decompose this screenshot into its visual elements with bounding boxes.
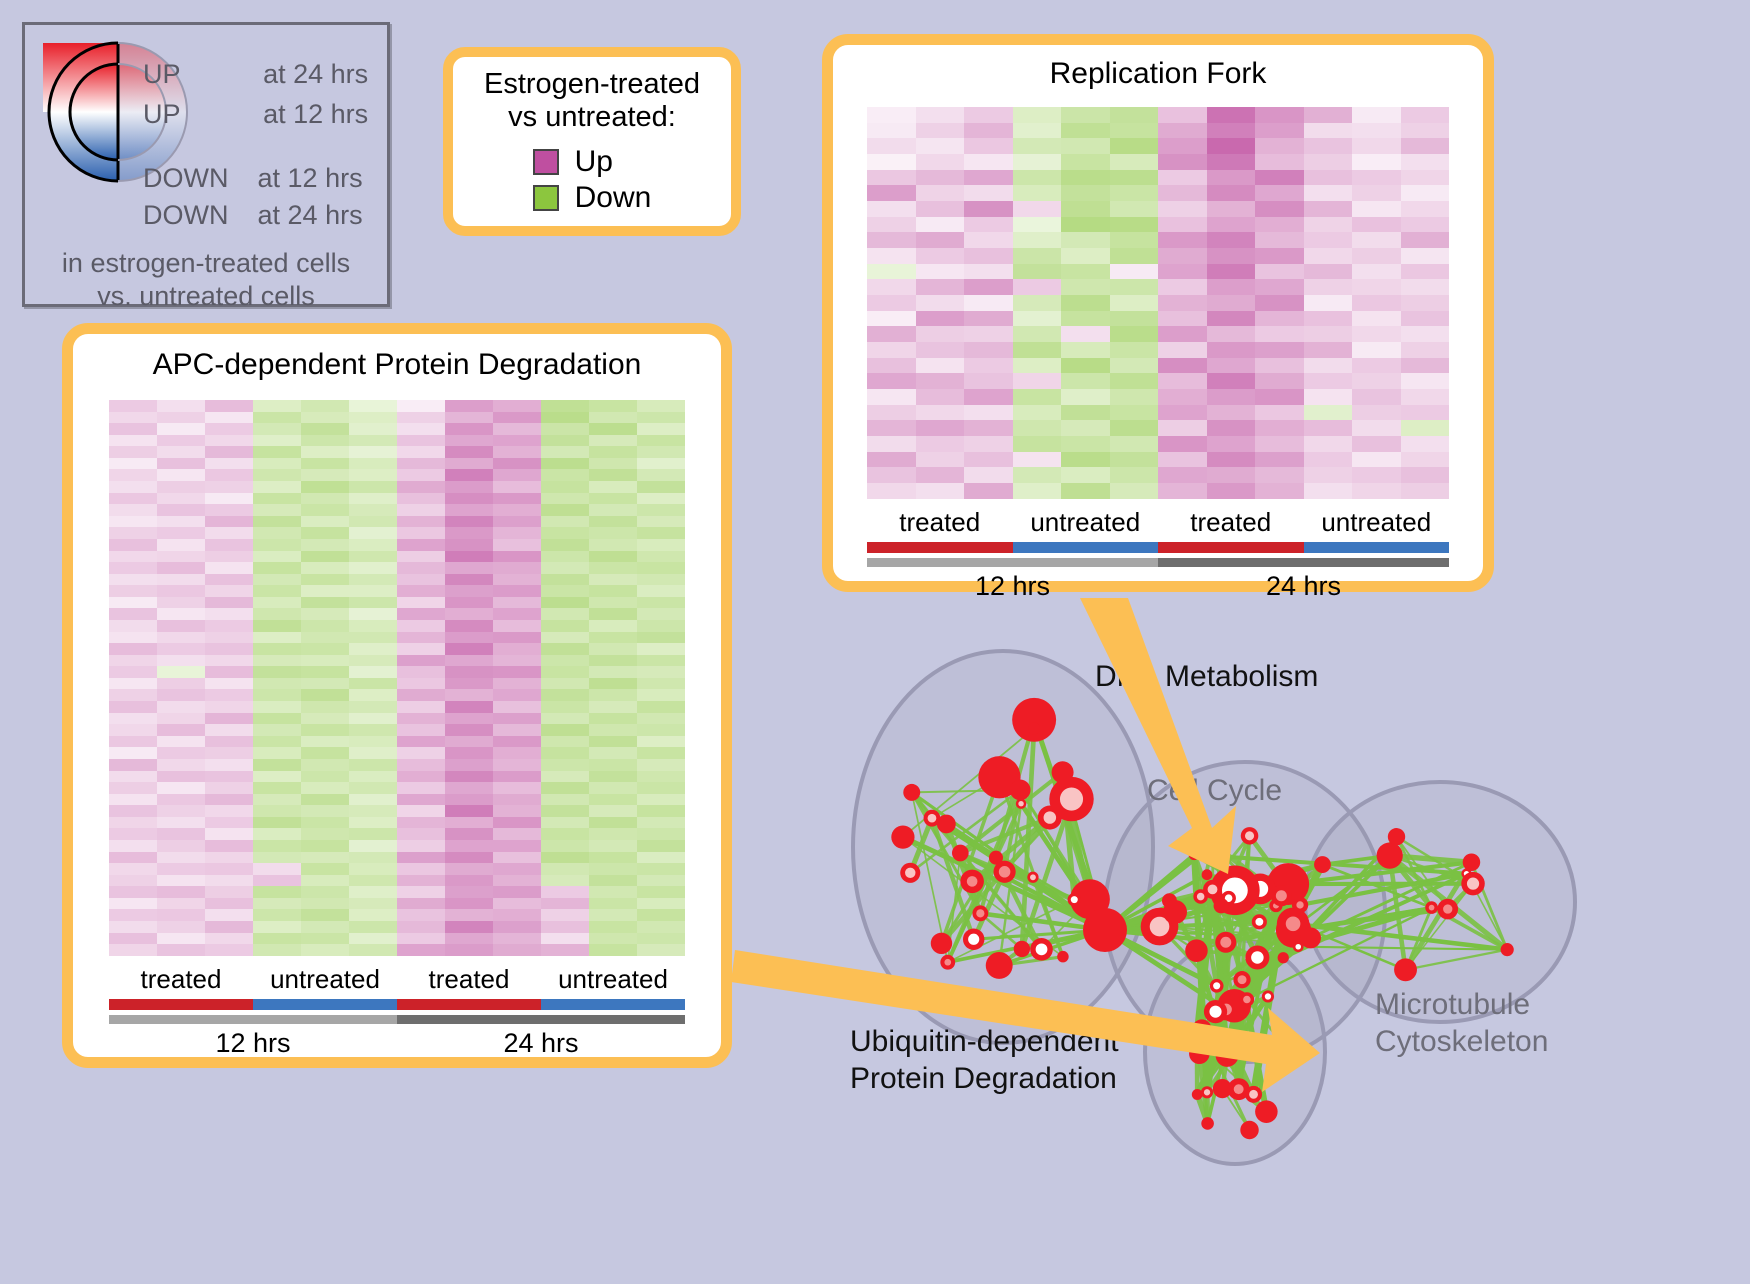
heatmap-cell xyxy=(349,701,397,713)
heatmap-cell xyxy=(445,574,493,586)
heatmap-cell xyxy=(637,724,685,736)
heatmap-cell xyxy=(1110,483,1159,499)
network-node-core xyxy=(1220,937,1231,948)
heatmap-cell xyxy=(349,458,397,470)
heatmap-cell xyxy=(157,504,205,516)
heatmap-cell xyxy=(541,771,589,783)
heatmap-cell xyxy=(637,423,685,435)
heatmap-cell xyxy=(1013,154,1062,170)
network-node-core xyxy=(1208,884,1218,894)
heatmap-cell xyxy=(493,655,541,667)
updown-title-line1: Estrogen-treated xyxy=(484,68,700,100)
heatmap-cell xyxy=(349,435,397,447)
heatmap-cell xyxy=(1255,467,1304,483)
heatmap-cell xyxy=(157,898,205,910)
heatmap-cell xyxy=(589,458,637,470)
heatmap-cell xyxy=(493,782,541,794)
heatmap-cell xyxy=(964,154,1013,170)
heatmap-cell xyxy=(1158,420,1207,436)
heatmap-cell xyxy=(541,921,589,933)
heatmap-cell xyxy=(157,435,205,447)
heatmap-cell xyxy=(205,643,253,655)
heatmap-cell xyxy=(253,400,301,412)
legend-state: DOWN xyxy=(143,200,228,230)
heatmap-cell xyxy=(589,585,637,597)
heatmap-cell xyxy=(493,400,541,412)
heatmap-cell xyxy=(637,666,685,678)
heatmap-cell xyxy=(397,551,445,563)
heatmap-cell xyxy=(349,678,397,690)
heatmap-cell xyxy=(1304,138,1353,154)
heatmap-cell xyxy=(397,713,445,725)
heatmap-cell xyxy=(541,412,589,424)
legend-footer-line2: vs. untreated cells xyxy=(25,280,387,313)
heatmap-cell xyxy=(1013,107,1062,123)
heatmap-cell xyxy=(397,863,445,875)
heatmap-cell xyxy=(445,504,493,516)
heatmap-cell xyxy=(637,435,685,447)
heatmap-cell xyxy=(1207,185,1256,201)
heatmap-cell xyxy=(541,805,589,817)
heatmap-cell xyxy=(589,817,637,829)
heatmap-cell xyxy=(445,458,493,470)
heatmap-cell xyxy=(637,620,685,632)
heatmap-cell xyxy=(301,469,349,481)
heatmap-cell xyxy=(1158,154,1207,170)
heatmap-cell xyxy=(109,944,157,956)
heatmap-cell xyxy=(1255,264,1304,280)
network-node xyxy=(1206,837,1220,851)
network-node xyxy=(903,784,920,801)
heatmap-cell xyxy=(253,852,301,864)
heatmap-cell xyxy=(397,701,445,713)
heatmap-cell xyxy=(157,713,205,725)
heatmap-cell xyxy=(1158,436,1207,452)
heatmap-cell xyxy=(253,840,301,852)
heatmap-cell xyxy=(541,655,589,667)
heatmap-cell xyxy=(493,759,541,771)
network-node-core xyxy=(1036,943,1048,955)
heatmap-cell xyxy=(637,689,685,701)
heatmap-cell xyxy=(493,423,541,435)
heatmap-cell xyxy=(109,423,157,435)
cluster-label-line2: Protein Degradation xyxy=(850,1061,1119,1098)
group-labels: treated untreated treated untreated xyxy=(867,507,1449,538)
heatmap-cell xyxy=(397,423,445,435)
heatmap-cell xyxy=(1110,373,1159,389)
heatmap-cell xyxy=(916,342,965,358)
pathway-network: DNA Metabolism Cell Cycle Microtubule Cy… xyxy=(795,612,1750,1279)
heatmap-cell xyxy=(1061,138,1110,154)
heatmap-cell xyxy=(589,828,637,840)
heatmap-cell xyxy=(253,736,301,748)
heatmap-cell xyxy=(397,840,445,852)
heatmap-cell xyxy=(1304,232,1353,248)
legend-time: at 12 hrs xyxy=(258,163,363,193)
time-colour-bar xyxy=(867,558,1449,567)
heatmap-cell xyxy=(301,574,349,586)
heatmap-cell xyxy=(867,264,916,280)
heatmap-cell xyxy=(157,921,205,933)
heatmap-cell xyxy=(1013,483,1062,499)
heatmap-cell xyxy=(445,539,493,551)
heatmap-cell xyxy=(1013,326,1062,342)
cluster-halo-microtubule xyxy=(1305,782,1575,1022)
heatmap-cell xyxy=(1061,170,1110,186)
heatmap-cell xyxy=(1255,170,1304,186)
heatmap-cell xyxy=(1207,326,1256,342)
heatmap-cell xyxy=(1110,138,1159,154)
heatmap-cell xyxy=(541,817,589,829)
heatmap-cell xyxy=(445,481,493,493)
heatmap-cell xyxy=(301,736,349,748)
heatmap-cell xyxy=(493,504,541,516)
heatmap-cell xyxy=(1304,373,1353,389)
heatmap-cell xyxy=(589,655,637,667)
heatmap-cell xyxy=(1110,436,1159,452)
network-node-core xyxy=(976,909,984,917)
network-node xyxy=(1052,761,1074,783)
heatmap-cell xyxy=(349,933,397,945)
heatmap-cell xyxy=(867,154,916,170)
heatmap-cell xyxy=(637,898,685,910)
heatmap-cell xyxy=(916,201,965,217)
heatmap-cell xyxy=(916,373,965,389)
heatmap-cell xyxy=(964,279,1013,295)
heatmap-cell xyxy=(157,458,205,470)
heatmap-cell xyxy=(205,469,253,481)
heatmap-cell xyxy=(109,817,157,829)
heatmap-cell xyxy=(1352,405,1401,421)
heatmap-cell xyxy=(253,527,301,539)
cluster-label-line1: Microtubule xyxy=(1375,987,1548,1024)
heatmap-cell xyxy=(445,562,493,574)
heatmap-cell xyxy=(205,759,253,771)
heatmap-cell xyxy=(301,933,349,945)
time-bar-segment xyxy=(109,1015,397,1024)
heatmap-cell xyxy=(589,771,637,783)
heatmap-cell xyxy=(1401,138,1450,154)
heatmap-cell xyxy=(1013,138,1062,154)
heatmap-cell xyxy=(301,539,349,551)
heatmap-cell xyxy=(397,689,445,701)
heatmap-cell xyxy=(205,400,253,412)
heatmap-cell xyxy=(205,713,253,725)
network-node xyxy=(1185,939,1208,962)
heatmap-cell xyxy=(1401,264,1450,280)
heatmap-cell xyxy=(1110,311,1159,327)
legend-state: UP xyxy=(143,59,180,89)
heatmap-cell xyxy=(1110,232,1159,248)
heatmap-cell xyxy=(1255,405,1304,421)
heatmap-cell xyxy=(589,852,637,864)
heatmap-cell xyxy=(157,886,205,898)
heatmap-cell xyxy=(157,875,205,887)
heatmap-cell xyxy=(1158,373,1207,389)
heatmap-cell xyxy=(205,446,253,458)
heatmap-cell xyxy=(301,724,349,736)
heatmap-cell xyxy=(493,828,541,840)
heatmap-cell xyxy=(1401,154,1450,170)
legend-time: at 24 hrs xyxy=(258,200,363,230)
heatmap-cell xyxy=(349,632,397,644)
group-label: treated xyxy=(867,507,1013,538)
legend-down-label: Down xyxy=(575,181,652,215)
heatmap-cell xyxy=(589,863,637,875)
legend-row-up-12: UP at 12 hrs xyxy=(143,99,368,130)
heatmap-cell xyxy=(589,632,637,644)
time-label: 24 hrs xyxy=(1158,571,1449,602)
heatmap-cell xyxy=(867,201,916,217)
heatmap-cell xyxy=(916,311,965,327)
heatmap-cell xyxy=(1352,358,1401,374)
heatmap-cell xyxy=(349,782,397,794)
heatmap-cell xyxy=(916,264,965,280)
heatmap-cell xyxy=(541,551,589,563)
heatmap-cell xyxy=(1352,154,1401,170)
heatmap-cell xyxy=(397,400,445,412)
heatmap-cell xyxy=(1255,483,1304,499)
heatmap-cell xyxy=(109,481,157,493)
heatmap-cell xyxy=(1207,138,1256,154)
heatmap-cell xyxy=(301,875,349,887)
heatmap-cell xyxy=(109,469,157,481)
heatmap-cell xyxy=(349,412,397,424)
heatmap-cell xyxy=(916,154,965,170)
heatmap-cell xyxy=(1061,373,1110,389)
network-node-core xyxy=(1467,878,1479,890)
legend-footer: in estrogen-treated cells vs. untreated … xyxy=(25,247,387,313)
heatmap-cell xyxy=(541,585,589,597)
heatmap-cell xyxy=(109,446,157,458)
heatmap-cell xyxy=(1304,405,1353,421)
heatmap-cell xyxy=(205,794,253,806)
up-swatch-icon xyxy=(533,149,559,175)
heatmap-cell xyxy=(493,527,541,539)
heatmap-cell xyxy=(493,585,541,597)
heatmap-cell xyxy=(205,736,253,748)
network-node xyxy=(1014,941,1030,957)
heatmap-cell xyxy=(964,264,1013,280)
heatmap-cell xyxy=(541,909,589,921)
heatmap-cell xyxy=(1401,107,1450,123)
heatmap-cell xyxy=(157,817,205,829)
heatmap-cell xyxy=(253,863,301,875)
network-node-core xyxy=(1060,787,1083,810)
group-label: untreated xyxy=(1304,507,1450,538)
heatmap-cell xyxy=(397,412,445,424)
heatmap-cell xyxy=(1255,185,1304,201)
heatmap-cell xyxy=(493,435,541,447)
heatmap-cell xyxy=(445,724,493,736)
heatmap-cell xyxy=(589,516,637,528)
heatmap-cell xyxy=(109,701,157,713)
heatmap-cell xyxy=(301,805,349,817)
heatmap-cell xyxy=(445,933,493,945)
heatmap-cell xyxy=(1207,201,1256,217)
heatmap-cell xyxy=(157,539,205,551)
heatmap-cell xyxy=(1013,170,1062,186)
heatmap-cell xyxy=(109,933,157,945)
heatmap-cell xyxy=(916,467,965,483)
heatmap-cell xyxy=(109,435,157,447)
cluster-label-line2: Cytoskeleton xyxy=(1375,1024,1548,1061)
heatmap-cell xyxy=(445,875,493,887)
heatmap-cell xyxy=(349,516,397,528)
heatmap-cell xyxy=(916,138,965,154)
heatmap-cell xyxy=(1158,483,1207,499)
heatmap-cell xyxy=(589,921,637,933)
heatmap-cell xyxy=(589,689,637,701)
heatmap-cell xyxy=(493,933,541,945)
heatmap-cell xyxy=(493,632,541,644)
heatmap-cell xyxy=(109,689,157,701)
heatmap-cell xyxy=(1110,342,1159,358)
heatmap-cell xyxy=(397,585,445,597)
heatmap-cell xyxy=(1061,326,1110,342)
heatmap-cell xyxy=(253,608,301,620)
heatmap-cell xyxy=(1207,107,1256,123)
heatmap-apc-degradation xyxy=(109,400,685,956)
heatmap-cell xyxy=(964,248,1013,264)
heatmap-cell xyxy=(1158,389,1207,405)
heatmap-cell xyxy=(541,574,589,586)
heatmap-cell xyxy=(1013,248,1062,264)
network-node-core xyxy=(1234,1084,1244,1094)
heatmap-cell xyxy=(205,585,253,597)
heatmap-cell xyxy=(301,840,349,852)
heatmap-cell xyxy=(541,713,589,725)
network-node xyxy=(1280,1042,1300,1062)
heatmap-cell xyxy=(157,551,205,563)
heatmap-cell xyxy=(637,944,685,956)
heatmap-cell xyxy=(205,608,253,620)
heatmap-cell xyxy=(1255,248,1304,264)
network-node-core xyxy=(1238,975,1247,984)
heatmap-cell xyxy=(1401,405,1450,421)
heatmap-cell xyxy=(445,493,493,505)
heatmap-cell xyxy=(589,666,637,678)
heatmap-cell xyxy=(493,597,541,609)
heatmap-cell xyxy=(253,412,301,424)
network-node xyxy=(1314,856,1331,873)
heatmap-cell xyxy=(397,527,445,539)
heatmap-cell xyxy=(157,933,205,945)
heatmap-cell xyxy=(493,551,541,563)
heatmap-cell xyxy=(205,724,253,736)
heatmap-cell xyxy=(109,620,157,632)
heatmap-cell xyxy=(1401,483,1450,499)
heatmap-cell xyxy=(1158,311,1207,327)
heatmap-cell xyxy=(867,483,916,499)
heatmap-cell xyxy=(445,632,493,644)
heatmap-cell xyxy=(253,828,301,840)
heatmap-cell xyxy=(1401,342,1450,358)
heatmap-cell xyxy=(1110,326,1159,342)
heatmap-cell xyxy=(349,597,397,609)
heatmap-cell xyxy=(157,585,205,597)
heatmap-cell xyxy=(157,724,205,736)
heatmap-cell xyxy=(253,875,301,887)
heatmap-cell xyxy=(1110,170,1159,186)
network-node-core xyxy=(1286,916,1301,931)
heatmap-cell xyxy=(589,886,637,898)
heatmap-cell xyxy=(1158,452,1207,468)
heatmap-cell xyxy=(1013,452,1062,468)
heatmap-cell xyxy=(253,898,301,910)
heatmap-cell xyxy=(1352,279,1401,295)
heatmap-cell xyxy=(1304,123,1353,139)
heatmap-cell xyxy=(1352,248,1401,264)
heatmap-cell xyxy=(349,423,397,435)
time-label: 24 hrs xyxy=(397,1028,685,1059)
heatmap-cell xyxy=(1013,201,1062,217)
heatmap-cell xyxy=(205,666,253,678)
heatmap-cell xyxy=(541,666,589,678)
heatmap-cell xyxy=(493,863,541,875)
heatmap-cell xyxy=(445,794,493,806)
heatmap-cell xyxy=(541,747,589,759)
heatmap-cell xyxy=(445,643,493,655)
heatmap-cell xyxy=(1304,264,1353,280)
heatmap-cell xyxy=(541,539,589,551)
heatmap-cell xyxy=(109,527,157,539)
heatmap-cell xyxy=(1158,123,1207,139)
heatmap-cell xyxy=(1207,342,1256,358)
heatmap-cell xyxy=(589,400,637,412)
heatmap-cell xyxy=(637,504,685,516)
heatmap-cell xyxy=(1255,326,1304,342)
legend-time: at 24 hrs xyxy=(263,59,368,89)
heatmap-cell xyxy=(253,481,301,493)
heatmap-cell xyxy=(1207,232,1256,248)
heatmap-cell xyxy=(397,852,445,864)
heatmap-cell xyxy=(637,875,685,887)
heatmap-cell xyxy=(301,666,349,678)
heatmap-cell xyxy=(205,458,253,470)
heatmap-cell xyxy=(637,840,685,852)
heatmap-cell xyxy=(589,736,637,748)
heatmap-cell xyxy=(253,886,301,898)
time-bar-segment xyxy=(397,1015,685,1024)
heatmap-cell xyxy=(253,689,301,701)
heatmap-cell xyxy=(1304,326,1353,342)
network-node xyxy=(1192,1089,1203,1100)
heatmap-cell xyxy=(205,828,253,840)
heatmap-cell xyxy=(349,493,397,505)
heatmap-cell xyxy=(349,771,397,783)
heatmap-cell xyxy=(964,452,1013,468)
heatmap-cell xyxy=(541,933,589,945)
heatmap-cell xyxy=(157,597,205,609)
heatmap-cell xyxy=(493,794,541,806)
heatmap-cell xyxy=(964,201,1013,217)
heatmap-cell xyxy=(541,423,589,435)
heatmap-cell xyxy=(1304,420,1353,436)
heatmap-cell xyxy=(589,539,637,551)
heatmap-cell xyxy=(1158,170,1207,186)
heatmap-cell xyxy=(157,759,205,771)
network-node-core xyxy=(1213,982,1220,989)
heatmap-cell xyxy=(397,724,445,736)
treatment-bar-segment xyxy=(253,999,397,1010)
heatmap-cell xyxy=(397,898,445,910)
heatmap-cell xyxy=(589,794,637,806)
heatmap-cell xyxy=(541,886,589,898)
heatmap-cell xyxy=(253,747,301,759)
heatmap-cell xyxy=(964,389,1013,405)
heatmap-cell xyxy=(1352,138,1401,154)
